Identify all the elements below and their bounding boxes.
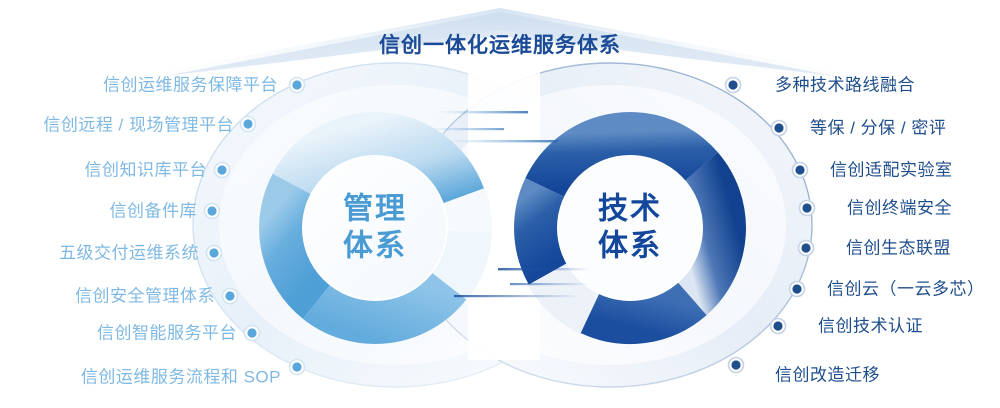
page-title: 信创一体化运维服务体系 bbox=[379, 29, 621, 59]
left-dot-4 bbox=[205, 204, 220, 219]
left-label-5[interactable]: 五级交付运维系统 bbox=[59, 245, 199, 262]
left-hub-title-line2: 体系 bbox=[343, 228, 407, 265]
left-dot-7 bbox=[245, 326, 260, 341]
right-dot-4 bbox=[800, 201, 815, 216]
right-dot-8 bbox=[729, 358, 744, 373]
right-hub-title-line2: 体系 bbox=[598, 228, 662, 265]
left-hub-title: 管理 体系 bbox=[343, 191, 407, 264]
left-dot-5 bbox=[207, 246, 222, 261]
left-dot-2 bbox=[241, 117, 256, 132]
right-label-8[interactable]: 信创改造迁移 bbox=[775, 367, 880, 384]
right-label-2[interactable]: 等保 / 分保 / 密评 bbox=[810, 120, 946, 137]
right-dot-7 bbox=[771, 319, 786, 334]
right-dot-1 bbox=[726, 78, 741, 93]
left-dot-1 bbox=[290, 78, 305, 93]
right-hub-title-line1: 技术 bbox=[598, 191, 662, 228]
left-dot-6 bbox=[223, 289, 238, 304]
left-label-7[interactable]: 信创智能服务平台 bbox=[97, 325, 237, 342]
left-label-3[interactable]: 信创知识库平台 bbox=[85, 162, 208, 179]
left-label-8[interactable]: 信创运维服务流程和 SOP bbox=[81, 369, 281, 386]
right-label-4[interactable]: 信创终端安全 bbox=[847, 200, 952, 217]
left-dot-8 bbox=[290, 360, 305, 375]
right-dot-6 bbox=[790, 282, 805, 297]
left-label-1[interactable]: 信创运维服务保障平台 bbox=[103, 77, 278, 94]
right-label-5[interactable]: 信创生态联盟 bbox=[846, 240, 951, 257]
right-dot-3 bbox=[793, 163, 808, 178]
right-label-6[interactable]: 信创云（一云多芯） bbox=[827, 281, 985, 298]
left-hub-title-line1: 管理 bbox=[343, 191, 407, 228]
left-label-2[interactable]: 信创远程 / 现场管理平台 bbox=[43, 117, 234, 134]
right-dot-5 bbox=[799, 241, 814, 256]
right-label-7[interactable]: 信创技术认证 bbox=[818, 318, 923, 335]
left-label-4[interactable]: 信创备件库 bbox=[110, 203, 198, 220]
left-label-6[interactable]: 信创安全管理体系 bbox=[75, 288, 215, 305]
right-dot-2 bbox=[772, 121, 787, 136]
diagram-canvas: 信创一体化运维服务体系 信创运维服务保障平台 信创远程 / 现场管理平台 信创知… bbox=[0, 0, 1000, 408]
right-hub-title: 技术 体系 bbox=[598, 191, 662, 264]
right-label-1[interactable]: 多种技术路线融合 bbox=[775, 77, 915, 94]
left-dot-3 bbox=[215, 163, 230, 178]
right-label-3[interactable]: 信创适配实验室 bbox=[830, 162, 953, 179]
